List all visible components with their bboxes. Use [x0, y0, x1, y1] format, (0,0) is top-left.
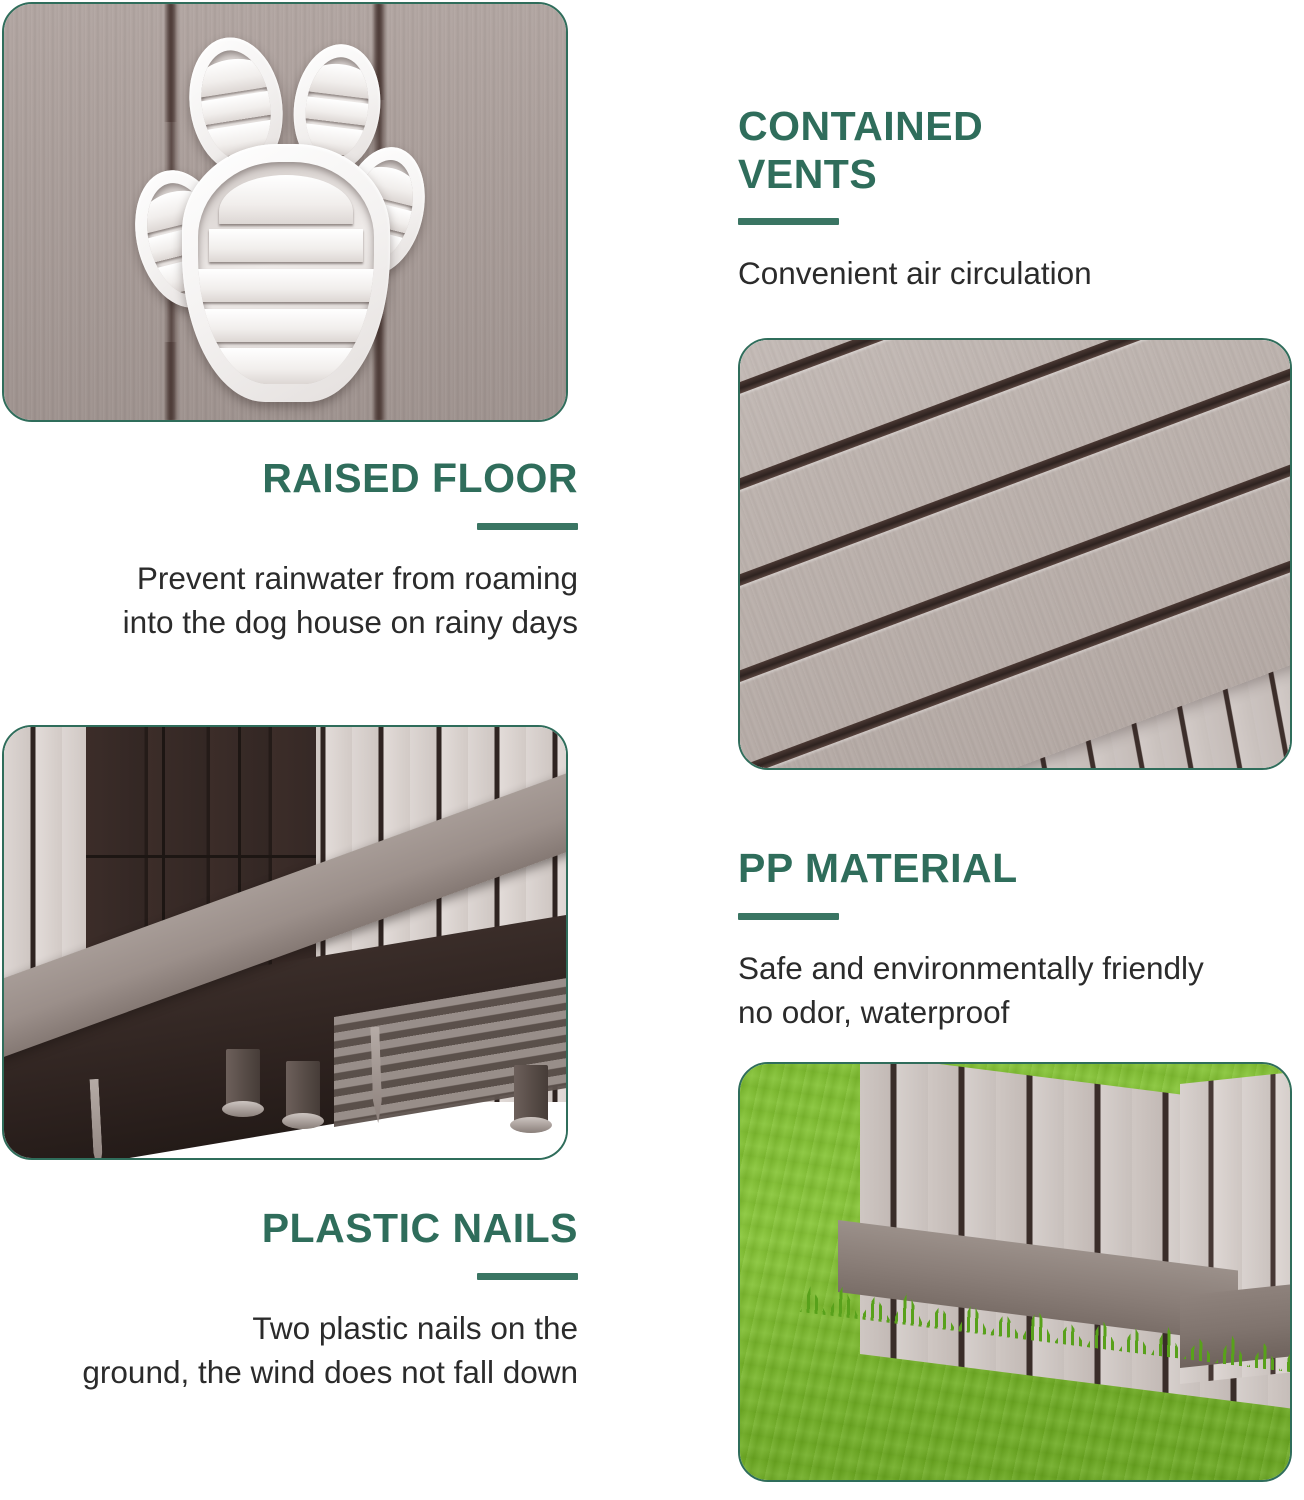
- feature-body: Prevent rainwater from roaming into the …: [0, 556, 578, 645]
- feature-heading: CONTAINED VENTS: [738, 103, 1298, 198]
- nails-scene: [4, 727, 566, 1158]
- feature-heading: RAISED FLOOR: [0, 455, 578, 503]
- feature-text-raised-floor: RAISED FLOOR Prevent rainwater from roam…: [0, 455, 578, 645]
- feature-text-plastic-nails: PLASTIC NAILS Two plastic nails on the g…: [0, 1205, 578, 1395]
- vent-slat: [198, 269, 374, 302]
- vent-slat: [198, 348, 374, 384]
- roof-groove: [738, 338, 1292, 537]
- feature-body: Convenient air circulation: [738, 251, 1298, 296]
- vent-slat: [198, 309, 374, 342]
- dog-house-grass-image-panel: [738, 1062, 1292, 1482]
- vent-slat: [219, 175, 353, 224]
- heading-rule: [477, 523, 578, 530]
- vent-slat: [303, 60, 374, 99]
- roof-scene: [740, 340, 1290, 768]
- support-post: [514, 1065, 548, 1125]
- feature-text-contained-vents: CONTAINED VENTS Convenient air circulati…: [738, 103, 1298, 296]
- feature-body: Safe and environmentally friendly no odo…: [738, 946, 1298, 1035]
- plastic-nails-image-panel: [2, 725, 568, 1160]
- heading-rule: [738, 218, 839, 225]
- vent-slat: [300, 96, 374, 127]
- paw-print-vent-icon: [4, 4, 568, 422]
- vent-slat: [209, 229, 364, 262]
- vent-main-pad: [182, 144, 390, 402]
- door-seam: [86, 855, 316, 858]
- paw-vent-image-panel: [2, 2, 568, 422]
- roof-deck-image-panel: [738, 338, 1292, 770]
- heading-rule: [738, 913, 839, 920]
- feature-heading: PLASTIC NAILS: [0, 1205, 578, 1253]
- heading-rule: [477, 1273, 578, 1280]
- roof-groove: [738, 338, 1292, 452]
- feature-body: Two plastic nails on the ground, the win…: [0, 1306, 578, 1395]
- support-post: [286, 1061, 320, 1121]
- vent-well: [198, 162, 374, 384]
- support-post: [226, 1049, 260, 1109]
- feature-text-pp-material: PP MATERIAL Safe and environmentally fri…: [738, 845, 1298, 1035]
- infographic-canvas: RAISED FLOOR Prevent rainwater from roam…: [0, 0, 1304, 1500]
- feature-heading: PP MATERIAL: [738, 845, 1298, 893]
